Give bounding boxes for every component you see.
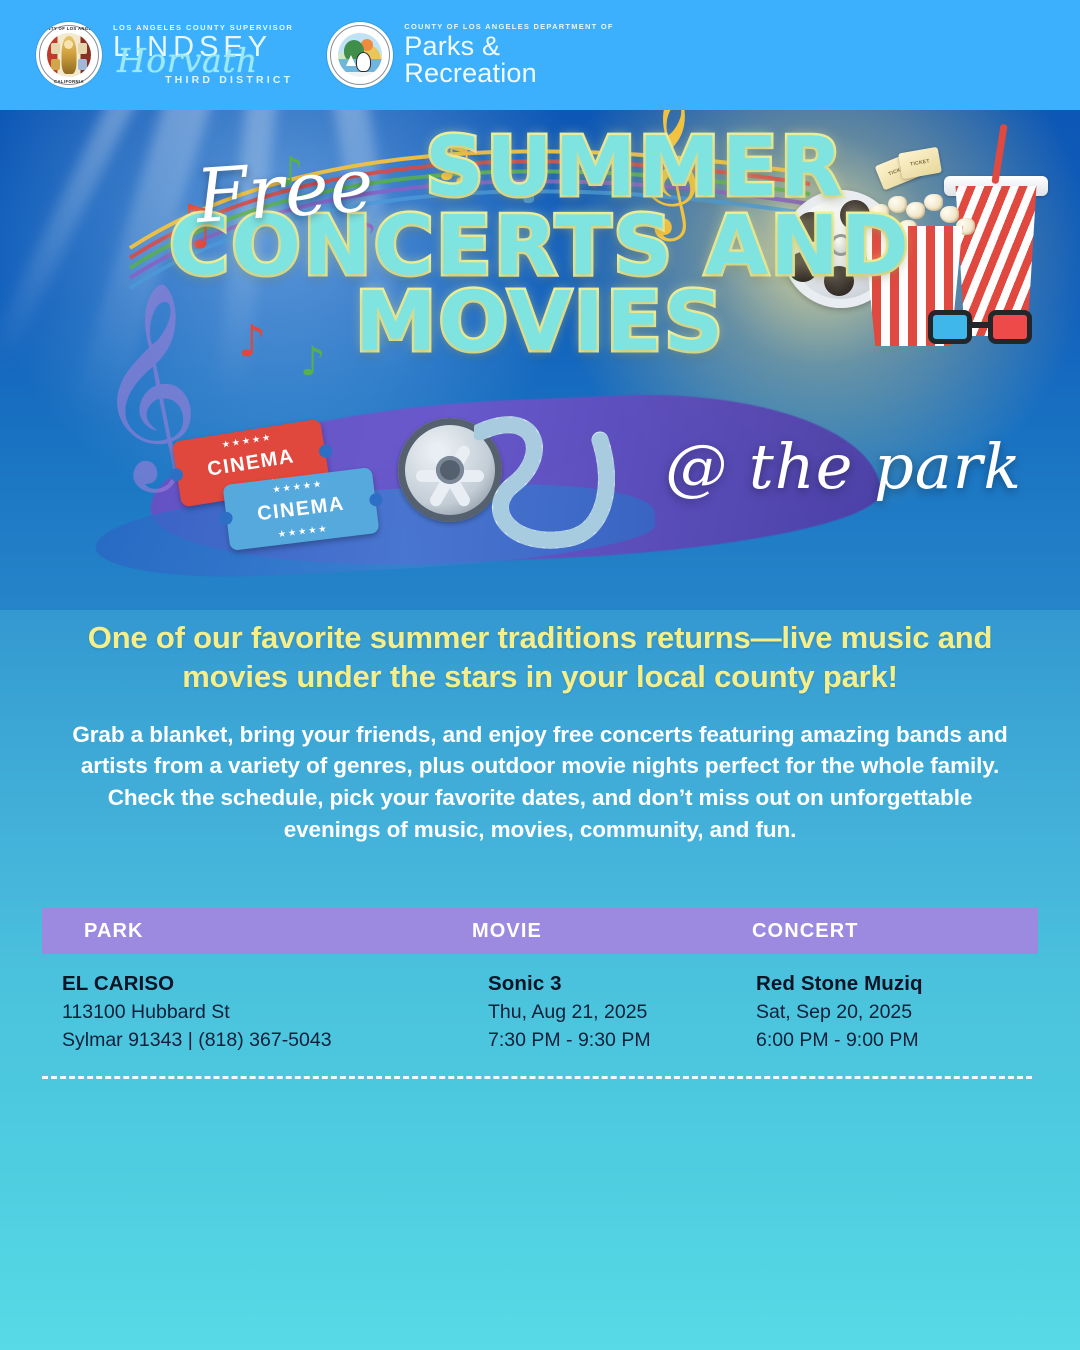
department-kicker: COUNTY OF LOS ANGELES DEPARTMENT OF (404, 23, 613, 31)
table-row: EL CARISO 113100 Hubbard St Sylmar 91343… (42, 954, 1038, 1064)
department-name-line2: Recreation (404, 60, 613, 87)
column-header-park: PARK (42, 920, 436, 943)
park-address: 113100 Hubbard St (62, 999, 436, 1027)
concert-time: 6:00 PM - 9:00 PM (756, 1027, 1038, 1055)
brand-header: COUNTY OF LOS ANGELES CALIFORNIA LOS ANG… (0, 0, 1080, 110)
park-name: EL CARISO (62, 972, 436, 996)
cell-movie: Sonic 3 Thu, Aug 21, 2025 7:30 PM - 9:30… (436, 972, 746, 1054)
seal-top-text: COUNTY OF LOS ANGELES (36, 26, 102, 31)
cell-park: EL CARISO 113100 Hubbard St Sylmar 91343… (42, 972, 436, 1054)
department-name-line1: Parks & (404, 33, 613, 60)
cinema-tickets-illustration: ★★★★★ CINEMA ★★★★★ ★★★★★ CINEMA ★★★★★ (170, 430, 390, 560)
seal-bottom-text: CALIFORNIA (36, 79, 102, 84)
column-header-concert: CONCERT (746, 920, 1038, 943)
ticket-label: CINEMA (256, 492, 346, 526)
movie-time: 7:30 PM - 9:30 PM (488, 1027, 746, 1055)
lede-text: One of our favorite summer traditions re… (56, 618, 1024, 697)
schedule-table-header: PARK MOVIE CONCERT (42, 908, 1038, 954)
la-county-seal-icon: COUNTY OF LOS ANGELES CALIFORNIA (36, 22, 102, 88)
column-header-movie: MOVIE (436, 920, 746, 943)
concert-date: Sat, Sep 20, 2025 (756, 999, 1038, 1027)
schedule-table: PARK MOVIE CONCERT EL CARISO 113100 Hubb… (42, 908, 1038, 1079)
film-strip-icon (474, 410, 624, 560)
intro-copy: One of our favorite summer traditions re… (0, 618, 1080, 846)
parks-rec-logo: COUNTY OF LOS ANGELES DEPARTMENT OF Park… (327, 22, 613, 88)
movie-title: Sonic 3 (488, 972, 746, 996)
supervisor-logo: COUNTY OF LOS ANGELES CALIFORNIA LOS ANG… (36, 22, 293, 88)
title-line-2: CONCERTS AND MOVIES (0, 209, 1080, 360)
park-city-phone: Sylmar 91343 | (818) 367-5043 (62, 1027, 436, 1055)
hero-title-group: Free SUMMER CONCERTS AND MOVIES @ the pa… (0, 130, 1080, 360)
parks-recreation-seal-icon (327, 22, 393, 88)
title-free-word: Free (193, 142, 377, 240)
row-divider (42, 1076, 1032, 1079)
film-reel-strip-illustration (398, 410, 628, 570)
title-at-the-park: @ the park (665, 430, 1022, 503)
cell-concert: Red Stone Muziq Sat, Sep 20, 2025 6:00 P… (746, 972, 1038, 1054)
movie-date: Thu, Aug 21, 2025 (488, 999, 746, 1027)
title-line-1: SUMMER (0, 130, 1080, 205)
description-text: Grab a blanket, bring your friends, and … (56, 719, 1024, 846)
concert-title: Red Stone Muziq (756, 972, 1038, 996)
